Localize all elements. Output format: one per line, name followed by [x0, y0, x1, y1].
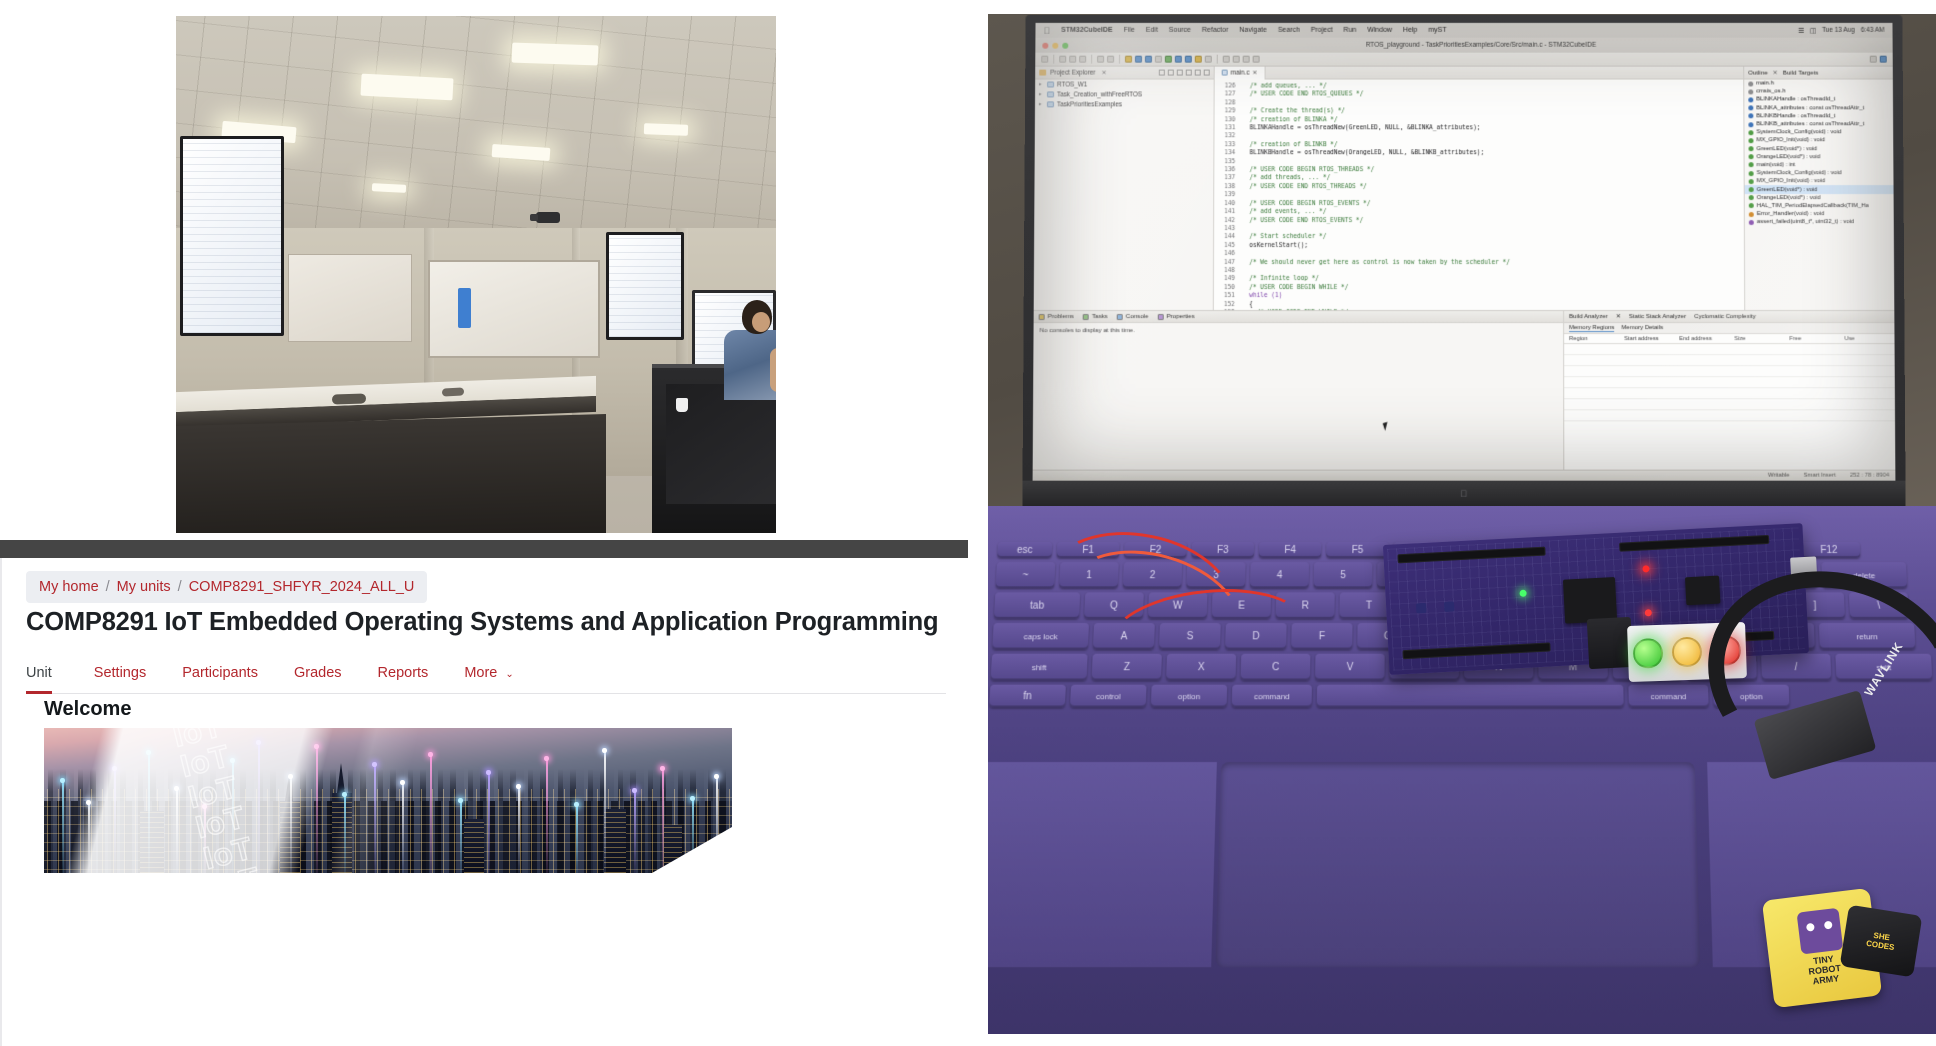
code-line: 137 /* add threads, ... */: [1214, 175, 1743, 183]
code-text: BLINKBHandle = osThreadNew(OrangeLED, NU…: [1242, 149, 1484, 157]
ceiling-camera: [536, 212, 560, 223]
close-icon[interactable]: ✕: [1616, 313, 1621, 320]
outline-item[interactable]: SystemClock_Config(void) : void: [1745, 169, 1894, 177]
outline-symbol-icon: [1749, 220, 1754, 225]
key-command[interactable]: command: [1232, 685, 1312, 708]
outline-item-label: assert_failed(uint8_t*, uint32_t) : void: [1757, 219, 1854, 225]
trackpad[interactable]: [1215, 762, 1700, 967]
outline-item[interactable]: BLINKAHandle : osThreadId_t: [1744, 96, 1893, 104]
filter-icon[interactable]: [1177, 70, 1183, 76]
key-f12[interactable]: F12: [1797, 542, 1860, 558]
projection-screen: [606, 232, 684, 340]
terminal-icon[interactable]: [1205, 56, 1212, 63]
status-cursor-position: 252 : 78 : 8904: [1850, 473, 1889, 479]
code-line: 134 BLINKBHandle = osThreadNew(OrangeLED…: [1214, 149, 1743, 157]
user-button[interactable]: [1444, 601, 1455, 612]
outline-symbol-icon: [1748, 122, 1753, 127]
laptop-screen:  STM32CubeIDE File Edit Source Refactor…: [1033, 23, 1896, 481]
table-row: [1564, 399, 1895, 410]
sticker2-label: SHECODES: [1866, 930, 1897, 953]
line-number: 129: [1215, 108, 1243, 116]
window-titlebar: RTOS_playground - TaskPrioritiesExamples…: [1035, 38, 1892, 53]
ide-toolbar: [1035, 53, 1893, 67]
project-explorer-title: Project Explorer: [1050, 69, 1095, 76]
outline-item-label: main(void) : int: [1757, 162, 1796, 168]
print-icon[interactable]: [1079, 56, 1086, 63]
menu-run[interactable]: Run: [1344, 27, 1357, 34]
ide-bottom-panel: Problems Tasks Console: [1033, 310, 1896, 481]
view-menu-icon[interactable]: [1186, 70, 1192, 76]
code-text: /* add queues, ... */: [1243, 83, 1327, 91]
macos-menu-bar:  STM32CubeIDE File Edit Source Refactor…: [1035, 23, 1892, 38]
table-row: [1564, 377, 1895, 388]
project-icon: [1047, 92, 1054, 98]
code-text: /* Start scheduler */: [1242, 233, 1326, 241]
tab-cyclomatic-complexity[interactable]: Cyclomatic Complexity: [1694, 313, 1756, 320]
code-line: 135: [1214, 158, 1743, 166]
line-number: 141: [1214, 208, 1242, 216]
outline-item-label: BLINKBHandle : osThreadId_t: [1756, 113, 1835, 119]
menu-refactor[interactable]: Refactor: [1202, 27, 1228, 34]
code-text: /* add threads, ... */: [1242, 175, 1330, 183]
outline-symbol-icon: [1748, 89, 1753, 94]
breadcrumb-separator: /: [178, 579, 182, 595]
outline-symbol-icon: [1748, 81, 1753, 86]
code-text: /* Infinite loop */: [1242, 275, 1319, 283]
tab-grades-label: Grades: [294, 665, 342, 681]
memory-tab-bar: Memory Regions Memory Details: [1564, 323, 1894, 334]
lecture-hall-photo: [176, 16, 776, 533]
whiteboard: [428, 260, 600, 358]
code-line: 151 while (1): [1214, 292, 1744, 300]
presenter-body: [724, 330, 776, 400]
panel-divider-horizontal: [0, 533, 968, 540]
status-writable: Writable: [1768, 473, 1790, 479]
outline-item-label: GreenLED(void*) : void: [1756, 146, 1817, 152]
outline-item[interactable]: Error_Handler(void) : void: [1745, 210, 1894, 218]
outline-item[interactable]: MX_GPIO_Init(void) : void: [1745, 177, 1894, 185]
forward-icon[interactable]: [1253, 56, 1260, 63]
menubar-time: 6:43 AM: [1861, 27, 1885, 34]
minimize-icon[interactable]: [1052, 42, 1058, 48]
profile-icon[interactable]: [1175, 56, 1182, 63]
outline-symbol-icon: [1749, 179, 1754, 184]
search-icon[interactable]: [1155, 56, 1162, 63]
maximize-icon[interactable]: [1062, 42, 1068, 48]
page-title: COMP8291 IoT Embedded Operating Systems …: [26, 608, 938, 637]
table-row: [1564, 344, 1894, 355]
outline-item[interactable]: assert_failed(uint8_t*, uint32_t) : void: [1745, 218, 1894, 226]
close-icon[interactable]: ✕: [1773, 69, 1778, 76]
chevron-right-icon[interactable]: ▸: [1039, 102, 1044, 108]
panel-divider-vertical: [968, 0, 988, 1046]
wall-panel: [458, 288, 471, 328]
launch-icon[interactable]: [1165, 56, 1172, 63]
toolbar-separator: [1119, 55, 1120, 64]
tab-unit[interactable]: Unit: [26, 661, 70, 693]
lecture-bench-front: [176, 414, 606, 533]
key-option[interactable]: option: [1151, 685, 1227, 708]
window-title: RTOS_playground - TaskPrioritiesExamples…: [1076, 42, 1885, 49]
outline-tab-outline[interactable]: Outline: [1748, 69, 1768, 76]
outline-symbol-icon: [1749, 203, 1754, 208]
collapse-all-icon[interactable]: [1159, 70, 1165, 76]
laptop-photo:  STM32CubeIDE File Edit Source Refactor…: [988, 14, 1936, 1034]
outline-item-label: main.h: [1756, 81, 1774, 87]
outline-symbol-icon: [1748, 130, 1753, 135]
outline-item[interactable]: SystemClock_Config(void) : void: [1744, 128, 1893, 136]
back-icon[interactable]: [1243, 56, 1250, 63]
code-text: /* creation of BLINKB */: [1242, 141, 1337, 149]
menu-navigate[interactable]: Navigate: [1239, 27, 1267, 34]
console-tab-bar: Problems Tasks Console: [1034, 311, 1563, 323]
code-text: /* USER CODE BEGIN WHILE */: [1242, 284, 1348, 292]
code-line: 150 /* USER CODE BEGIN WHILE */: [1214, 284, 1744, 292]
key-control[interactable]: control: [1070, 685, 1147, 708]
code-text: /* USER CODE END RTOS_THREADS */: [1242, 183, 1367, 191]
project-explorer-tools: [1159, 70, 1210, 76]
c-file-icon: [1222, 70, 1228, 76]
lecture-hall-photo-panel: [0, 0, 968, 540]
undo-icon[interactable]: [1097, 56, 1104, 63]
code-line: 129 /* Create the thread(s) */: [1215, 108, 1744, 116]
code-text: /* Create the thread(s) */: [1242, 108, 1345, 116]
line-number: 148: [1214, 267, 1242, 275]
keyboard-row: fncontroloptioncommandcommandoption: [989, 685, 1789, 708]
code-line: 127 /* USER CODE END RTOS_QUEUES */: [1215, 91, 1744, 99]
tasks-icon: [1083, 314, 1089, 320]
tab-tasks-label: Tasks: [1092, 313, 1108, 320]
line-number: 140: [1214, 200, 1242, 208]
line-number: 144: [1214, 233, 1242, 241]
key-f5[interactable]: F5: [1326, 542, 1389, 558]
outline-item-label: OrangeLED(void*) : void: [1757, 154, 1821, 160]
code-line: 141 /* add events, ... */: [1214, 208, 1744, 216]
banner-diagonal-overlay-2: [44, 728, 732, 873]
outline-item[interactable]: MX_GPIO_Init(void) : void: [1744, 137, 1893, 145]
presenter-arm: [770, 348, 776, 392]
outline-symbol-icon: [1748, 97, 1753, 102]
wifi-icon[interactable]: ☰: [1798, 26, 1804, 34]
outline-item-label: BLINKB_attributes : const osThreadAttr_t: [1756, 121, 1864, 127]
line-number: 145: [1214, 242, 1242, 250]
prev-annotation-icon[interactable]: [1233, 56, 1240, 63]
build-analyzer-panel: Build Analyzer ✕ Static Stack Analyzer C…: [1564, 311, 1895, 481]
ceiling-light: [512, 43, 599, 66]
lms-course-page: My home / My units / COMP8291_SHFYR_2024…: [0, 540, 968, 1046]
tab-grades[interactable]: Grades: [276, 661, 360, 693]
mcu-chip: [1563, 577, 1617, 624]
laptop-bezel: : [1022, 481, 1905, 507]
code-text: /* creation of BLINKA */: [1242, 116, 1337, 124]
line-number: 136: [1214, 166, 1242, 174]
tab-properties[interactable]: Properties: [1157, 313, 1194, 320]
code-line: 133 /* creation of BLINKB */: [1214, 141, 1743, 149]
project-label: RTOS_W1: [1057, 81, 1087, 88]
outline-item[interactable]: HAL_TIM_PeriodElapsedCallback(TIM_Ha: [1745, 202, 1894, 210]
code-line: 132: [1214, 133, 1743, 141]
maximize-view-icon[interactable]: [1204, 70, 1210, 76]
outline-item[interactable]: cmsis_os.h: [1744, 88, 1893, 96]
project-icon: [1047, 102, 1054, 108]
breadcrumb-separator: /: [106, 579, 110, 595]
console-message: No consoles to display at this time.: [1033, 323, 1563, 338]
outline-item[interactable]: BLINKA_attributes : const osThreadAttr_t: [1744, 104, 1893, 112]
laptop-brand-logo: : [1460, 489, 1468, 499]
editor-tab-bar: main.c ✕: [1215, 67, 1744, 80]
toolbar-separator: [1217, 55, 1218, 64]
line-number: 151: [1214, 292, 1242, 300]
toolbar-separator: [1053, 55, 1054, 64]
close-icon[interactable]: ✕: [1101, 69, 1106, 77]
desk-object: [442, 387, 464, 396]
project-explorer-header: Project Explorer ✕: [1035, 67, 1214, 80]
col-region: Region: [1564, 336, 1619, 342]
chevron-right-icon[interactable]: ▸: [1039, 82, 1044, 88]
run-icon[interactable]: [1135, 56, 1142, 63]
line-number: 146: [1214, 250, 1242, 258]
breadcrumb-item-my-home[interactable]: My home: [39, 579, 99, 595]
col-size: Size: [1729, 336, 1784, 342]
outline-item[interactable]: BLINKBHandle : osThreadId_t: [1744, 112, 1893, 120]
debug-icon[interactable]: [1125, 56, 1132, 63]
close-icon[interactable]: [1042, 42, 1048, 48]
menubar-status-area: ☰ ◫ Tue 13 Aug 6:43 AM: [1798, 26, 1885, 34]
key-fn[interactable]: fn: [989, 685, 1066, 708]
tab-settings-label: Settings: [94, 665, 146, 681]
status-insert-mode: Smart Insert: [1804, 473, 1836, 479]
minimize-view-icon[interactable]: [1195, 70, 1201, 76]
code-line: 131 BLINKAHandle = osThreadNew(GreenLED,…: [1214, 124, 1743, 132]
menu-app-name[interactable]: STM32CubeIDE: [1061, 27, 1113, 34]
build-icon[interactable]: [1069, 56, 1076, 63]
tab-problems[interactable]: Problems: [1039, 313, 1074, 320]
outline-header: Outline ✕ Build Targets: [1744, 67, 1893, 80]
outline-symbol-icon: [1749, 171, 1754, 176]
menu-edit[interactable]: Edit: [1146, 27, 1158, 34]
outline-item-label: SystemClock_Config(void) : void: [1757, 170, 1842, 176]
window-traffic-lights: [1042, 42, 1068, 48]
close-icon[interactable]: ✕: [1252, 69, 1257, 76]
code-text: /* add events, ... */: [1242, 208, 1326, 216]
robot-icon: [1797, 908, 1844, 955]
outline-item[interactable]: OrangeLED(void*) : void: [1745, 194, 1894, 202]
tab-tasks[interactable]: Tasks: [1083, 313, 1108, 320]
outline-item-label: cmsis_os.h: [1756, 89, 1785, 95]
properties-icon: [1157, 314, 1163, 320]
outline-item[interactable]: GreenLED(void*) : void: [1745, 145, 1894, 153]
line-number: 126: [1215, 83, 1243, 91]
line-number: 138: [1214, 183, 1242, 191]
outline-item-label: MX_GPIO_Init(void) : void: [1757, 178, 1825, 184]
link-editor-icon[interactable]: [1168, 70, 1174, 76]
line-number: 128: [1215, 99, 1243, 107]
laptop-photo-panel:  STM32CubeIDE File Edit Source Refactor…: [988, 0, 1936, 1046]
code-line: 146: [1214, 250, 1744, 258]
line-number: 131: [1214, 124, 1242, 132]
reset-button[interactable]: [1416, 603, 1427, 614]
tab-reports[interactable]: Reports: [360, 661, 447, 693]
table-row: [1564, 366, 1895, 377]
outline-item[interactable]: BLINKB_attributes : const osThreadAttr_t: [1744, 120, 1893, 128]
outline-item[interactable]: OrangeLED(void*) : void: [1745, 153, 1894, 161]
line-number: 147: [1214, 259, 1242, 267]
laptop-lid:  STM32CubeIDE File Edit Source Refactor…: [1022, 15, 1905, 507]
open-perspective-icon[interactable]: [1870, 56, 1877, 63]
menubar-date: Tue 13 Aug: [1822, 27, 1855, 34]
code-text: /* USER CODE END RTOS_EVENTS */: [1242, 217, 1363, 225]
breadcrumb-item-unit-code[interactable]: COMP8291_SHFYR_2024_ALL_U: [189, 579, 415, 595]
project-tree-item[interactable]: ▸ RTOS_W1: [1035, 80, 1214, 90]
line-number: 127: [1215, 91, 1243, 99]
tab-more[interactable]: More ⌄: [446, 661, 531, 693]
save-icon[interactable]: [1059, 56, 1066, 63]
outline-symbol-icon: [1749, 187, 1754, 192]
chevron-right-icon[interactable]: ▸: [1039, 92, 1044, 98]
code-text: /* USER CODE END RTOS_QUEUES */: [1243, 91, 1364, 99]
table-row: [1564, 410, 1895, 421]
outline-item[interactable]: main.h: [1744, 80, 1893, 88]
sticker-label: TINYROBOTARMY: [1807, 954, 1843, 987]
tab-build-analyzer[interactable]: Build Analyzer: [1569, 313, 1608, 320]
lms-top-bar: [0, 540, 968, 558]
chevron-down-icon: ⌄: [505, 669, 513, 680]
tab-unit-label: Unit: [26, 665, 52, 681]
outline-item-label: Error_Handler(void) : void: [1757, 211, 1824, 217]
menu-myst[interactable]: myST: [1428, 27, 1446, 34]
menu-help[interactable]: Help: [1403, 27, 1417, 34]
outline-item-label: GreenLED(void*) : void: [1757, 187, 1818, 193]
menu-search[interactable]: Search: [1278, 27, 1300, 34]
step-icon[interactable]: [1185, 56, 1192, 63]
breadcrumb: My home / My units / COMP8291_SHFYR_2024…: [26, 571, 427, 603]
tab-more-label: More: [464, 665, 497, 681]
key-v[interactable]: V: [1315, 654, 1385, 681]
line-number: 149: [1214, 275, 1242, 283]
line-number: 143: [1214, 225, 1242, 233]
line-number: 135: [1214, 158, 1242, 166]
sticker-secondary: SHECODES: [1840, 905, 1923, 978]
table-row: [1564, 355, 1895, 366]
tab-memory-details[interactable]: Memory Details: [1622, 325, 1664, 331]
outline-symbol-icon: [1749, 212, 1754, 217]
new-file-icon[interactable]: [1041, 56, 1048, 63]
console-panel: Problems Tasks Console: [1033, 311, 1565, 481]
outline-tab-build-targets[interactable]: Build Targets: [1783, 69, 1819, 76]
tab-static-stack-analyzer[interactable]: Static Stack Analyzer: [1629, 313, 1686, 320]
line-number: 142: [1214, 217, 1242, 225]
cup: [676, 398, 688, 412]
menu-project[interactable]: Project: [1311, 27, 1333, 34]
line-number: 139: [1214, 191, 1242, 199]
outline-symbol-icon: [1749, 146, 1754, 151]
col-start-address: Start address: [1619, 336, 1674, 342]
key-shift[interactable]: shift: [991, 654, 1088, 681]
breakpoint-icon[interactable]: [1195, 56, 1202, 63]
memory-table-header: Region Start address End address Size Fr…: [1564, 334, 1894, 344]
code-line: 136 /* USER CODE BEGIN RTOS_THREADS */: [1214, 166, 1743, 174]
outline-item[interactable]: GreenLED(void*) : void: [1745, 186, 1894, 194]
perspective-c-cpp-icon[interactable]: [1880, 56, 1887, 63]
key-command[interactable]: command: [1628, 685, 1708, 708]
next-annotation-icon[interactable]: [1223, 56, 1230, 63]
col-used: Use: [1839, 336, 1894, 342]
external-tools-icon[interactable]: [1145, 56, 1152, 63]
outline-symbol-icon: [1748, 106, 1753, 111]
tab-settings[interactable]: Settings: [76, 661, 164, 693]
key-4[interactable]: 4: [1250, 562, 1309, 588]
code-line: 140 /* USER CODE BEGIN RTOS_EVENTS */: [1214, 200, 1744, 208]
code-line: 142 /* USER CODE END RTOS_EVENTS */: [1214, 217, 1744, 225]
outline-symbol-icon: [1749, 163, 1754, 168]
screenshot-root: My home / My units / COMP8291_SHFYR_2024…: [0, 0, 1936, 1046]
code-text: osKernelStart();: [1242, 242, 1308, 250]
key-esc[interactable]: esc: [997, 542, 1052, 558]
code-text: /* USER CODE BEGIN RTOS_EVENTS */: [1242, 200, 1370, 208]
menu-file[interactable]: File: [1124, 27, 1135, 34]
table-row: [1564, 388, 1895, 399]
key-5[interactable]: 5: [1314, 562, 1373, 588]
presenter-face: [752, 312, 770, 332]
outline-item[interactable]: main(void) : int: [1745, 161, 1894, 169]
code-text: BLINKAHandle = osThreadNew(GreenLED, NUL…: [1242, 124, 1480, 132]
battery-icon[interactable]: ◫: [1810, 26, 1816, 34]
key-space[interactable]: [1317, 685, 1624, 708]
line-number: 132: [1214, 133, 1242, 141]
section-heading: Welcome: [44, 698, 131, 721]
breadboard-connector: [1587, 617, 1634, 669]
menu-window[interactable]: Window: [1367, 27, 1392, 34]
tab-console[interactable]: Console: [1117, 313, 1149, 320]
outline-item-label: MX_GPIO_Init(void) : void: [1756, 138, 1824, 144]
code-line: 149 /* Infinite loop */: [1214, 275, 1744, 283]
tab-participants[interactable]: Participants: [164, 661, 276, 693]
code-line: 144 /* Start scheduler */: [1214, 233, 1744, 241]
redo-icon[interactable]: [1107, 56, 1114, 63]
tab-participants-label: Participants: [182, 665, 258, 681]
microphone: [332, 393, 366, 404]
key-f4[interactable]: F4: [1259, 542, 1322, 558]
memory-regions-table: Region Start address End address Size Fr…: [1564, 334, 1895, 481]
line-number: 133: [1214, 141, 1242, 149]
code-line: 145 osKernelStart();: [1214, 242, 1744, 250]
tab-properties-label: Properties: [1166, 313, 1194, 320]
palm-rest-left: [988, 762, 1217, 967]
tab-memory-regions[interactable]: Memory Regions: [1569, 325, 1614, 332]
folder-icon: [1039, 70, 1046, 76]
breadcrumb-item-my-units[interactable]: My units: [117, 579, 171, 595]
code-line: 143: [1214, 225, 1744, 233]
code-line: 130 /* creation of BLINKA */: [1215, 116, 1744, 124]
project-tree-item[interactable]: ▸ Task_Creation_withFreeRTOS: [1035, 90, 1214, 100]
code-text: {: [1242, 301, 1253, 309]
whiteboard: [288, 254, 412, 342]
ceiling-light: [372, 183, 406, 193]
outline-symbol-icon: [1748, 138, 1753, 143]
code-line: 152 {: [1214, 301, 1744, 309]
outline-symbol-icon: [1749, 154, 1754, 159]
menu-source[interactable]: Source: [1169, 27, 1191, 34]
outline-item-label: SystemClock_Config(void) : void: [1756, 130, 1841, 136]
project-tree-item[interactable]: ▸ TaskPrioritiesExamples: [1035, 100, 1214, 110]
ceiling-light: [644, 123, 688, 136]
ide-status-bar: Writable Smart Insert 252 : 78 : 8904: [1033, 470, 1896, 481]
apple-icon[interactable]: : [1043, 25, 1050, 35]
tab-problems-label: Problems: [1048, 313, 1074, 320]
code-line: 148: [1214, 267, 1744, 275]
project-icon: [1047, 82, 1054, 88]
editor-tab-main-c[interactable]: main.c ✕: [1215, 66, 1266, 79]
